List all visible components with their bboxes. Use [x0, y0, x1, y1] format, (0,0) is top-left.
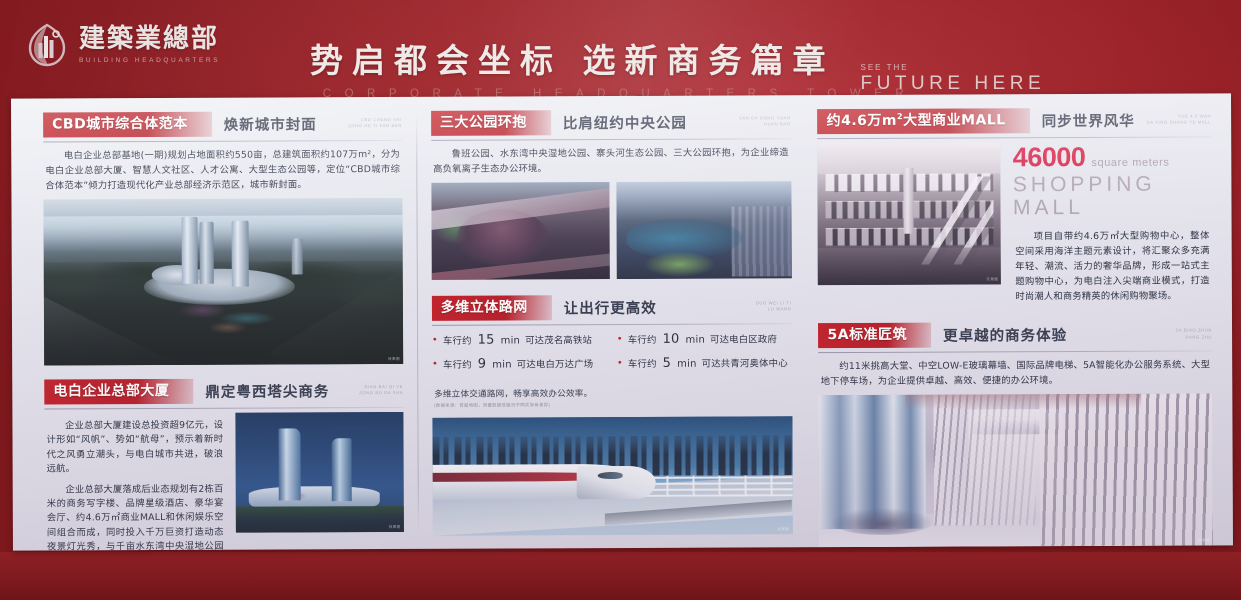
section-tag-roads: 多维立体路网	[432, 295, 552, 320]
section-5a: 5A标准匠筑 更卓越的商务体验 5A BIAO ZHUNJIANG ZHU 约1…	[818, 322, 1212, 390]
section-pinyin-5a: 5A BIAO ZHUNJIANG ZHU	[1176, 328, 1212, 341]
photo-wetland-park	[616, 181, 791, 279]
mall-big-number-row: 46000square meters	[1013, 143, 1212, 171]
section-parks: 三大公园环抱 比肩纽约中央公园 SAN DA GONG YUANHUAN BAO…	[431, 109, 791, 177]
section-rule	[818, 136, 1212, 139]
section-body-mall: 项目自带约4.6万㎡大型购物中心，整体空间采用海洋主题元素设计，将汇聚众多充满年…	[1015, 229, 1210, 305]
bullet-item: • 车行约9min可达电白万达广场	[432, 356, 607, 372]
photo-row-parks	[431, 181, 791, 280]
billboard-scene: 建築業總部 BUILDING HEADQUARTERS 势启都会坐标 选新商务篇…	[0, 0, 1241, 600]
section-tag-cbd: CBD城市综合体范本	[43, 112, 212, 138]
bullet-suffix: 可达茂名高铁站	[525, 332, 592, 346]
bullet-dot: •	[432, 360, 438, 370]
column-mall-5a: 约4.6万m2大型商业MALL 同步世界风华 YUE 4.6 WANDA XIN…	[804, 103, 1219, 537]
section-subtitle-cbd: 焕新城市封面	[224, 113, 317, 134]
bullet-suffix: 可达共青河奥体中心	[702, 355, 788, 369]
photo-lobby-interior: 效果图	[819, 394, 1213, 548]
bullet-prefix: 车行约	[628, 356, 657, 370]
photo-caption: 效果图	[389, 525, 401, 530]
section-rule	[819, 351, 1213, 354]
section-pinyin-tower: DIAN BAI QI YEZONG BU DA SHA	[359, 384, 403, 397]
section-tag-parks: 三大公园环抱	[431, 110, 551, 135]
section-subtitle-tower: 鼎定粤西塔尖商务	[205, 380, 329, 402]
bullet-value: 9	[477, 356, 488, 371]
photo-cbd-aerial: 效果图	[43, 198, 403, 366]
photo-caption: 效果图	[388, 357, 400, 362]
bullet-unit: min	[685, 335, 705, 346]
brand-name-cn: 建築業總部	[79, 26, 220, 53]
section-tower: 电白企业总部大厦 鼎定粤西塔尖商务 DIAN BAI QI YEZONG BU …	[44, 378, 403, 409]
wall-lower-band	[0, 552, 1241, 600]
section-subtitle-mall: 同步世界风华	[1042, 110, 1135, 131]
mall-area-number: 46000	[1013, 144, 1086, 171]
roads-fineprint: (数据来源：百度地图，测量数据受路况不同实际有差异)	[434, 401, 790, 409]
section-roads: 多维立体路网 让出行更高效 DUO WEI LI TILU WANG • 车行约…	[432, 294, 792, 408]
bullet-prefix: 车行约	[443, 333, 472, 347]
section-body-cbd: 电白企业总部基地(一期)规划占地面积约550亩，总建筑面积约107万m²，分为电…	[45, 147, 400, 194]
bullet-unit: min	[492, 359, 512, 370]
bullet-item: • 车行约5min可达共青河奥体中心	[617, 355, 792, 371]
column-parks-roads: 三大公园环抱 比肩纽约中央公园 SAN DA GONG YUANHUAN BAO…	[417, 105, 805, 539]
mall-headline-en: SHOPPING MALL	[1013, 172, 1212, 219]
section-tag-mall: 约4.6万m2大型商业MALL	[818, 108, 1030, 134]
section-pinyin-parks: SAN DA GONG YUANHUAN BAO	[739, 115, 791, 128]
section-rule	[43, 140, 402, 143]
section-rule	[44, 407, 403, 410]
photo-high-speed-train: 效果图	[432, 416, 792, 536]
transport-bullets: • 车行约15min可达茂名高铁站 • 车行约9min可达电白万达广场 •	[432, 331, 792, 381]
section-mall: 约4.6万m2大型商业MALL 同步世界风华 YUE 4.6 WANDA XIN…	[818, 107, 1212, 139]
brand-name-en: BUILDING HEADQUARTERS	[79, 57, 220, 64]
photo-caption: 效果图	[1198, 539, 1210, 544]
section-body-parks: 鲁班公园、水东湾中央湿地公园、寨头河生态公园、三大公园环抱，为企业缔造高负氧离子…	[433, 145, 789, 177]
bullet-suffix: 可达电白区政府	[710, 331, 777, 345]
bullet-value: 5	[662, 356, 673, 371]
roads-note: 多维立体交通路网，畅享高效办公效率。	[434, 386, 790, 400]
section-body-tower-1: 企业总部大厦建设总投资超9亿元，设计形如“风帆”、势如“航母”，预示着新时代之风…	[46, 419, 223, 477]
section-subtitle-roads: 让出行更高效	[564, 297, 657, 318]
bullet-prefix: 车行约	[443, 357, 472, 371]
section-rule	[431, 138, 791, 141]
section-body-tower-2: 企业总部大厦落成后业态规划有2栋百米的商务写字楼、品牌星级酒店、豪华宴会厅、约4…	[47, 482, 224, 550]
photo-mall-interior: 实景图	[818, 142, 1002, 285]
bullet-value: 10	[662, 332, 681, 347]
bullet-suffix: 可达电白万达广场	[517, 356, 594, 370]
see-the-label: SEE THE	[861, 63, 1046, 72]
section-pinyin-roads: DUO WEI LI TILU WANG	[756, 300, 792, 313]
section-pinyin-mall: YUE 4.6 WANDA XING SHANG YE MALL	[1147, 114, 1211, 127]
photo-caption: 效果图	[777, 527, 789, 532]
photo-park-plaza	[431, 182, 610, 280]
mall-area-unit: square meters	[1091, 157, 1169, 169]
section-cbd: CBD城市综合体范本 焕新城市封面 CBD CHENG SHIZONG HE T…	[43, 111, 402, 194]
bullet-dot: •	[432, 336, 438, 346]
bullet-dot: •	[617, 335, 623, 345]
photo-tower-render: 效果图	[235, 412, 404, 533]
section-body-5a: 约11米挑高大堂、中空LOW-E玻璃幕墙、国际品牌电梯、5A智能化办公服务系统、…	[821, 358, 1211, 390]
section-tag-tower: 电白企业总部大厦	[44, 379, 193, 405]
bullet-item: • 车行约15min可达茂名高铁站	[432, 332, 607, 348]
section-rule	[432, 323, 792, 326]
column-cbd: CBD城市综合体范本 焕新城市封面 CBD CHENG SHIZONG HE T…	[25, 107, 418, 541]
bullet-item: • 车行约10min可达电白区政府	[617, 331, 792, 347]
brand-logo: 建築業總部 BUILDING HEADQUARTERS	[24, 22, 220, 68]
section-subtitle-5a: 更卓越的商务体验	[943, 324, 1067, 346]
bullet-unit: min	[677, 359, 697, 370]
section-pinyin-cbd: CBD CHENG SHIZONG HE TI FAN BEN	[348, 117, 402, 130]
info-board: CBD城市综合体范本 焕新城市封面 CBD CHENG SHIZONG HE T…	[11, 93, 1233, 550]
bullet-unit: min	[501, 335, 521, 346]
section-subtitle-parks: 比肩纽约中央公园	[563, 112, 687, 134]
bullet-prefix: 车行约	[628, 332, 657, 346]
photo-caption: 实景图	[986, 277, 998, 282]
section-tag-5a: 5A标准匠筑	[818, 323, 931, 348]
bullet-value: 15	[477, 332, 496, 347]
headline-cn: 势启都会坐标 选新商务篇章	[310, 34, 835, 82]
bullet-dot: •	[617, 359, 623, 369]
building-flame-logo-icon	[24, 22, 70, 68]
